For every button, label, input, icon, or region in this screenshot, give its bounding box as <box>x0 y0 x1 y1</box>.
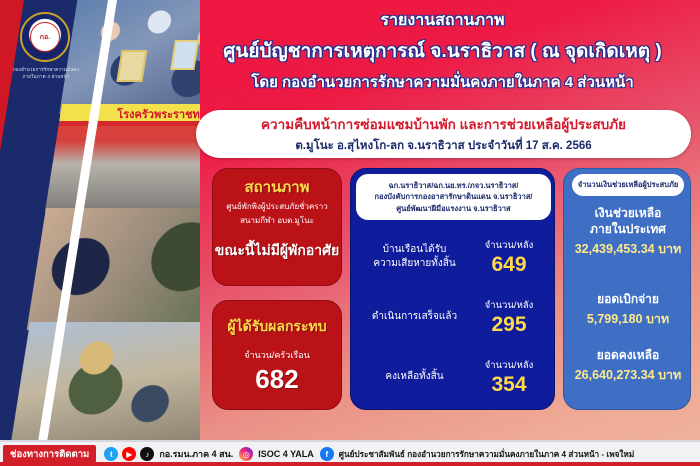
facebook-icon[interactable]: f <box>320 447 334 461</box>
table-row: ดำเนินการเสร็จแล้ว จำนวน/หลัง 295 <box>351 287 556 347</box>
row-value-remaining: จำนวน/หลัง 354 <box>470 358 548 396</box>
impact-value: 682 <box>255 364 298 395</box>
portrait-frame-1 <box>116 50 147 82</box>
status-title: สถานภาพ <box>244 175 309 199</box>
emblem-inner-seal: กอ. <box>30 22 60 52</box>
photo-royal-kitchen: โรงครัวพระราชทาน <box>45 104 200 212</box>
instagram-icon[interactable]: ◎ <box>239 447 253 461</box>
header-line-2: ศูนย์บัญชาการเหตุการณ์ จ.นราธิวาส ( ณ จุ… <box>190 36 695 66</box>
left-photo-column: โรงครัวพระราชทาน กอ. กองอำนวยการรักษาควา… <box>0 0 200 440</box>
funds-label-balance: ยอดคงเหลือ <box>564 347 692 363</box>
table-row: คงเหลือทั้งสิ้น จำนวน/หลัง 354 <box>351 347 556 407</box>
table-row: บ้านเรือนได้รับ ความเสียหายทั้งสิ้น จำนว… <box>351 227 556 287</box>
header-line-1: รายงานสถานภาพ <box>190 8 695 33</box>
repair-rows: บ้านเรือนได้รับ ความเสียหายทั้งสิ้น จำนว… <box>351 227 556 407</box>
row-label-remaining-1: คงเหลือทั้งสิ้น <box>359 370 470 384</box>
twitter-icon[interactable]: t <box>104 447 118 461</box>
row-unit-remaining: จำนวน/หลัง <box>470 358 548 373</box>
status-statement: ขณะนี้ไม่มีผู้พักอาศัย <box>215 240 339 262</box>
row-unit-completed: จำนวน/หลัง <box>470 298 548 313</box>
subtitle-line-1: ความคืบหน้าการซ่อมแซมบ้านพัก และการช่วยเ… <box>261 113 626 135</box>
subtitle-banner: ความคืบหน้าการซ่อมแซมบ้านพัก และการช่วยเ… <box>196 110 691 158</box>
status-panel: สถานภาพ ศูนย์พักพิงผู้ประสบภัยชั่วคราว ส… <box>212 168 342 286</box>
impact-unit-label: จำนวน/ครัวเรือน <box>244 348 310 362</box>
agency-list-badge: ฉก.นราธิวาส/ฉก.นย.ทร./ภจว.นราธิวาส/ กองบ… <box>356 174 551 220</box>
isoc-emblem-icon: กอ. <box>20 12 70 62</box>
row-label-damaged-1: บ้านเรือนได้รับ <box>359 243 470 257</box>
status-subline-2: สนามกีฬา อบต.มูโนะ <box>240 216 314 227</box>
channel-label-3: ศูนย์ประชาสัมพันธ์ กองอำนวยการรักษาความม… <box>339 448 634 461</box>
row-label-remaining: คงเหลือทั้งสิ้น <box>359 370 470 384</box>
photo-crowd <box>59 0 200 114</box>
agency-line-1: ฉก.นราธิวาส/ฉก.นย.ทร./ภจว.นราธิวาส/ <box>389 180 519 191</box>
funds-amount-balance: 26,640,273.34 บาท <box>564 365 692 385</box>
row-number-remaining: 354 <box>470 373 548 396</box>
row-label-completed-1: ดำเนินการเสร็จแล้ว <box>359 310 470 324</box>
emblem-caption: กองอำนวยการรักษาความมั่นคงภายในภาค 4 ส่ว… <box>8 66 84 80</box>
header-line-3: โดย กองอำนวยการรักษาความมั่นคงภายในภาค 4… <box>190 70 695 94</box>
tiktok-icon[interactable]: ♪ <box>140 447 154 461</box>
funds-amount-disbursed: 5,799,180 บาท <box>564 309 692 329</box>
row-number-damaged: 649 <box>470 253 548 276</box>
channel-label-1: กอ.รมน.ภาค 4 สน. <box>159 447 233 461</box>
status-subline-1: ศูนย์พักพิงผู้ประสบภัยชั่วคราว <box>226 202 327 213</box>
row-unit-damaged: จำนวน/หลัง <box>470 238 548 253</box>
funds-badge-label: จำนวนเงินช่วยเหลือผู้ประสบภัย <box>578 179 679 191</box>
agency-line-3: ศูนย์พัฒนาฝีมือแรงงาน จ.นราธิวาส <box>396 203 510 214</box>
funds-block-balance: ยอดคงเหลือ 26,640,273.34 บาท <box>564 347 692 385</box>
funds-label-domestic-2: ภายในประเทศ <box>564 221 692 237</box>
infographic-poster: โรงครัวพระราชทาน กอ. กองอำนวยการรักษาควา… <box>0 0 700 466</box>
photo-repair-work <box>11 322 200 440</box>
row-number-completed: 295 <box>470 313 548 336</box>
repair-progress-panel: ฉก.นราธิวาส/ฉก.นย.ทร./ภจว.นราธิวาส/ กองบ… <box>350 168 555 410</box>
row-value-completed: จำนวน/หลัง 295 <box>470 298 548 336</box>
row-label-damaged: บ้านเรือนได้รับ ความเสียหายทั้งสิ้น <box>359 243 470 271</box>
funds-amount-domestic: 32,439,453.34 บาท <box>564 239 692 259</box>
impact-panel: ผู้ได้รับผลกระทบ จำนวน/ครัวเรือน 682 <box>212 300 342 410</box>
funds-badge: จำนวนเงินช่วยเหลือผู้ประสบภัย <box>572 174 684 196</box>
subtitle-line-2: ต.มูโนะ อ.สุไหงโก-ลก จ.นราธิวาส ประจำวัน… <box>295 137 591 155</box>
footer-bar: ช่องทางการติดตาม t ▶ ♪ กอ.รมน.ภาค 4 สน. … <box>0 440 700 466</box>
funds-label-domestic-1: เงินช่วยเหลือ <box>564 205 692 221</box>
row-value-damaged: จำนวน/หลัง 649 <box>470 238 548 276</box>
poster-header: รายงานสถานภาพ ศูนย์บัญชาการเหตุการณ์ จ.น… <box>190 8 695 94</box>
photo-soldier-visit <box>27 208 200 330</box>
row-label-damaged-2: ความเสียหายทั้งสิ้น <box>359 257 470 271</box>
row-label-completed: ดำเนินการเสร็จแล้ว <box>359 310 470 324</box>
impact-title: ผู้ได้รับผลกระทบ <box>227 316 326 338</box>
funds-block-domestic: เงินช่วยเหลือ ภายในประเทศ 32,439,453.34 … <box>564 205 692 259</box>
agency-line-2: กองบังคับการกองอาสารักษาดินแดน จ.นราธิวา… <box>374 191 532 202</box>
youtube-icon[interactable]: ▶ <box>122 447 136 461</box>
funds-label-disbursed: ยอดเบิกจ่าย <box>564 291 692 307</box>
funds-block-disbursed: ยอดเบิกจ่าย 5,799,180 บาท <box>564 291 692 329</box>
relief-funds-panel: จำนวนเงินช่วยเหลือผู้ประสบภัย เงินช่วยเห… <box>563 168 691 410</box>
channel-label-2: ISOC 4 YALA <box>258 449 314 459</box>
follow-us-tag: ช่องทางการติดตาม <box>3 445 96 463</box>
